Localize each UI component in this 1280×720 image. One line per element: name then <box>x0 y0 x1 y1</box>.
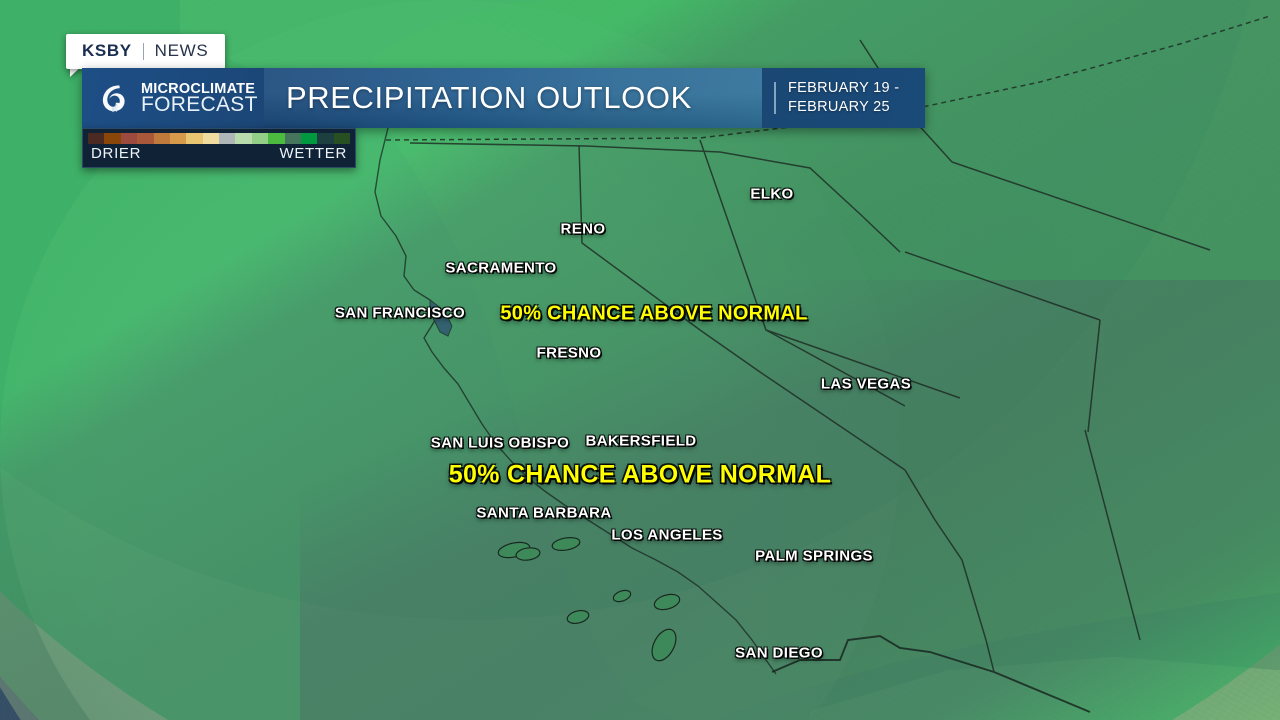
legend-swatch-14 <box>317 133 333 144</box>
legend-color-scale <box>88 133 350 144</box>
legend-swatch-11 <box>268 133 284 144</box>
logo-line-2: FORECAST <box>141 94 258 115</box>
outlook-callout-1: 50% CHANCE ABOVE NORMAL <box>500 303 807 326</box>
legend-swatch-2 <box>121 133 137 144</box>
legend-swatch-5 <box>170 133 186 144</box>
legend-swatch-4 <box>154 133 170 144</box>
legend-swatch-15 <box>334 133 350 144</box>
station-bug-section: NEWS <box>155 41 209 61</box>
station-call-letters: KSBY <box>82 41 132 61</box>
legend-swatch-7 <box>203 133 219 144</box>
page-title: PRECIPITATION OUTLOOK <box>286 80 692 116</box>
legend-drier-label: DRIER <box>91 145 141 162</box>
station-bug-divider <box>143 43 144 60</box>
outlook-callout-2: 50% CHANCE ABOVE NORMAL <box>449 461 831 490</box>
six-peacock-logo-icon <box>94 78 134 118</box>
date-range: FEBRUARY 19 - FEBRUARY 25 <box>788 79 899 117</box>
broadcast-weather-graphic: ELKORENOSACRAMENTOSAN FRANCISCOFRESNOLAS… <box>0 0 1280 720</box>
legend-swatch-9 <box>235 133 251 144</box>
microclimate-forecast-logo: MICROCLIMATE FORECAST <box>82 68 264 128</box>
legend-swatch-6 <box>186 133 202 144</box>
legend-label-row: DRIER WETTER <box>88 144 350 162</box>
legend-swatch-8 <box>219 133 235 144</box>
legend-swatch-1 <box>104 133 120 144</box>
date-range-panel: FEBRUARY 19 - FEBRUARY 25 <box>762 68 925 128</box>
station-bug[interactable]: KSBY NEWS <box>66 34 225 69</box>
legend-swatch-12 <box>285 133 301 144</box>
date-range-line-2: FEBRUARY 25 <box>788 99 890 115</box>
forecast-header-bar: MICROCLIMATE FORECAST PRECIPITATION OUTL… <box>82 68 925 128</box>
legend-swatch-3 <box>137 133 153 144</box>
legend-swatch-13 <box>301 133 317 144</box>
date-range-line-1: FEBRUARY 19 - <box>788 80 899 96</box>
legend-wetter-label: WETTER <box>279 145 347 162</box>
header-title-panel: PRECIPITATION OUTLOOK <box>264 68 762 128</box>
legend-swatch-10 <box>252 133 268 144</box>
legend-swatch-0 <box>88 133 104 144</box>
precipitation-legend: DRIER WETTER <box>82 128 356 168</box>
